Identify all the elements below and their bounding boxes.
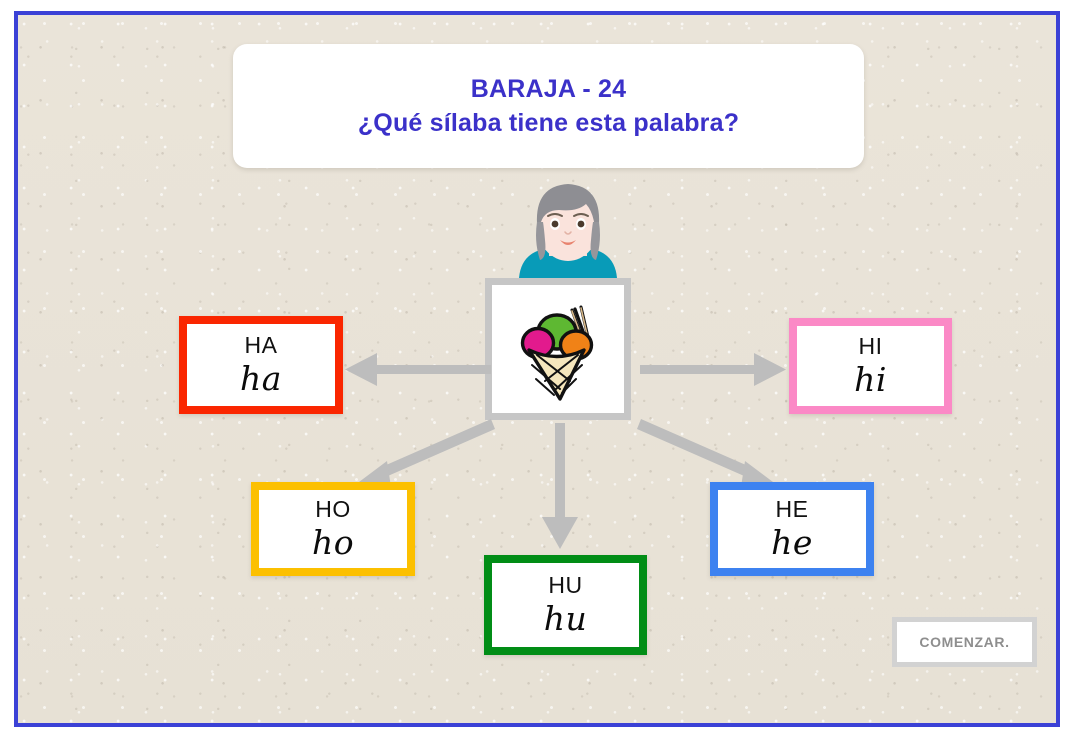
answer-upper-ho: HO (315, 496, 351, 522)
answer-card-hu[interactable]: HU hu (484, 555, 647, 655)
page-title: BARAJA - 24 (471, 72, 626, 106)
answer-lower-hu: hu (544, 600, 588, 638)
answer-card-ho[interactable]: HO ho (251, 482, 415, 576)
start-button-label: COMENZAR. (919, 634, 1009, 650)
arrow-down-icon (533, 423, 588, 551)
start-button[interactable]: COMENZAR. (892, 617, 1037, 667)
answer-lower-hi: hi (854, 361, 887, 399)
answer-lower-ho: ho (312, 524, 354, 562)
slide-frame: BARAJA - 24 ¿Qué sílaba tiene esta palab… (14, 11, 1060, 727)
ice-cream-cone-icon (512, 293, 604, 405)
answer-upper-he: HE (776, 496, 809, 522)
answer-card-he[interactable]: HE he (710, 482, 874, 576)
answer-card-ha[interactable]: HA ha (179, 316, 343, 414)
prompt-card[interactable] (485, 278, 631, 420)
answer-lower-ha: ha (240, 360, 282, 398)
arrow-down-right-icon (636, 417, 781, 492)
answer-upper-hu: HU (548, 572, 582, 598)
answer-upper-hi: HI (859, 333, 883, 359)
arrow-right-icon (638, 345, 788, 395)
teacher-avatar-icon (507, 178, 629, 284)
page-subtitle: ¿Qué sílaba tiene esta palabra? (358, 106, 739, 140)
arrow-left-icon (343, 345, 493, 395)
arrow-down-left-icon (351, 417, 496, 492)
title-card: BARAJA - 24 ¿Qué sílaba tiene esta palab… (233, 44, 864, 168)
answer-card-hi[interactable]: HI hi (789, 318, 952, 414)
answer-upper-ha: HA (245, 332, 278, 358)
answer-lower-he: he (771, 524, 813, 562)
